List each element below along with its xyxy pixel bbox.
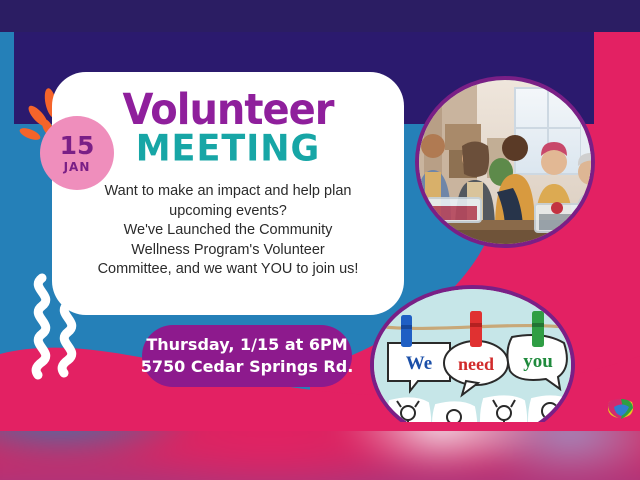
content-card: Volunteer MEETING Want to make an impact… bbox=[52, 72, 404, 315]
stick-figure-2 bbox=[433, 402, 476, 422]
event-details-pill: Thursday, 1/15 at 6PM 5750 Cedar Springs… bbox=[142, 325, 352, 387]
title-line-volunteer: Volunteer bbox=[52, 89, 404, 131]
stick-figure-3 bbox=[481, 396, 526, 422]
pink-edge-strip bbox=[0, 422, 640, 431]
blurred-gradient-top bbox=[0, 0, 640, 33]
svg-text:We: We bbox=[406, 353, 432, 374]
event-address: 5750 Cedar Springs Rd. bbox=[141, 356, 354, 378]
letterbox-bottom bbox=[0, 422, 640, 480]
event-datetime: Thursday, 1/15 at 6PM bbox=[146, 334, 347, 356]
svg-text:you: you bbox=[523, 351, 553, 372]
body-line-5: Committee, and we want YOU to join us! bbox=[66, 260, 390, 280]
letterbox-top bbox=[0, 0, 640, 33]
group-of-volunteers-photo bbox=[415, 76, 595, 248]
date-badge-month: JAN bbox=[64, 160, 91, 174]
body-copy: Want to make an impact and help plan upc… bbox=[66, 182, 390, 280]
body-line-4: Wellness Program's Volunteer bbox=[66, 241, 390, 261]
flyer-screenshot: Volunteer MEETING Want to make an impact… bbox=[0, 0, 640, 480]
clothespin-green bbox=[532, 311, 544, 347]
body-line-2: upcoming events? bbox=[66, 202, 390, 222]
date-badge-day: 15 bbox=[60, 133, 95, 158]
clothespin-red bbox=[470, 311, 482, 347]
flyer-artboard: Volunteer MEETING Want to make an impact… bbox=[0, 32, 640, 422]
svg-text:need: need bbox=[458, 354, 494, 374]
clothespin-blue bbox=[401, 315, 412, 347]
resource-center-logo: resourcecenter® Our Health. Our Communit… bbox=[536, 398, 636, 422]
date-badge: 15 JAN bbox=[40, 116, 114, 190]
body-line-3: We've Launched the Community bbox=[66, 221, 390, 241]
resource-center-logo-mark bbox=[608, 398, 634, 420]
white-squiggle-decoration bbox=[22, 272, 86, 382]
body-line-1: Want to make an impact and help plan bbox=[66, 182, 390, 202]
